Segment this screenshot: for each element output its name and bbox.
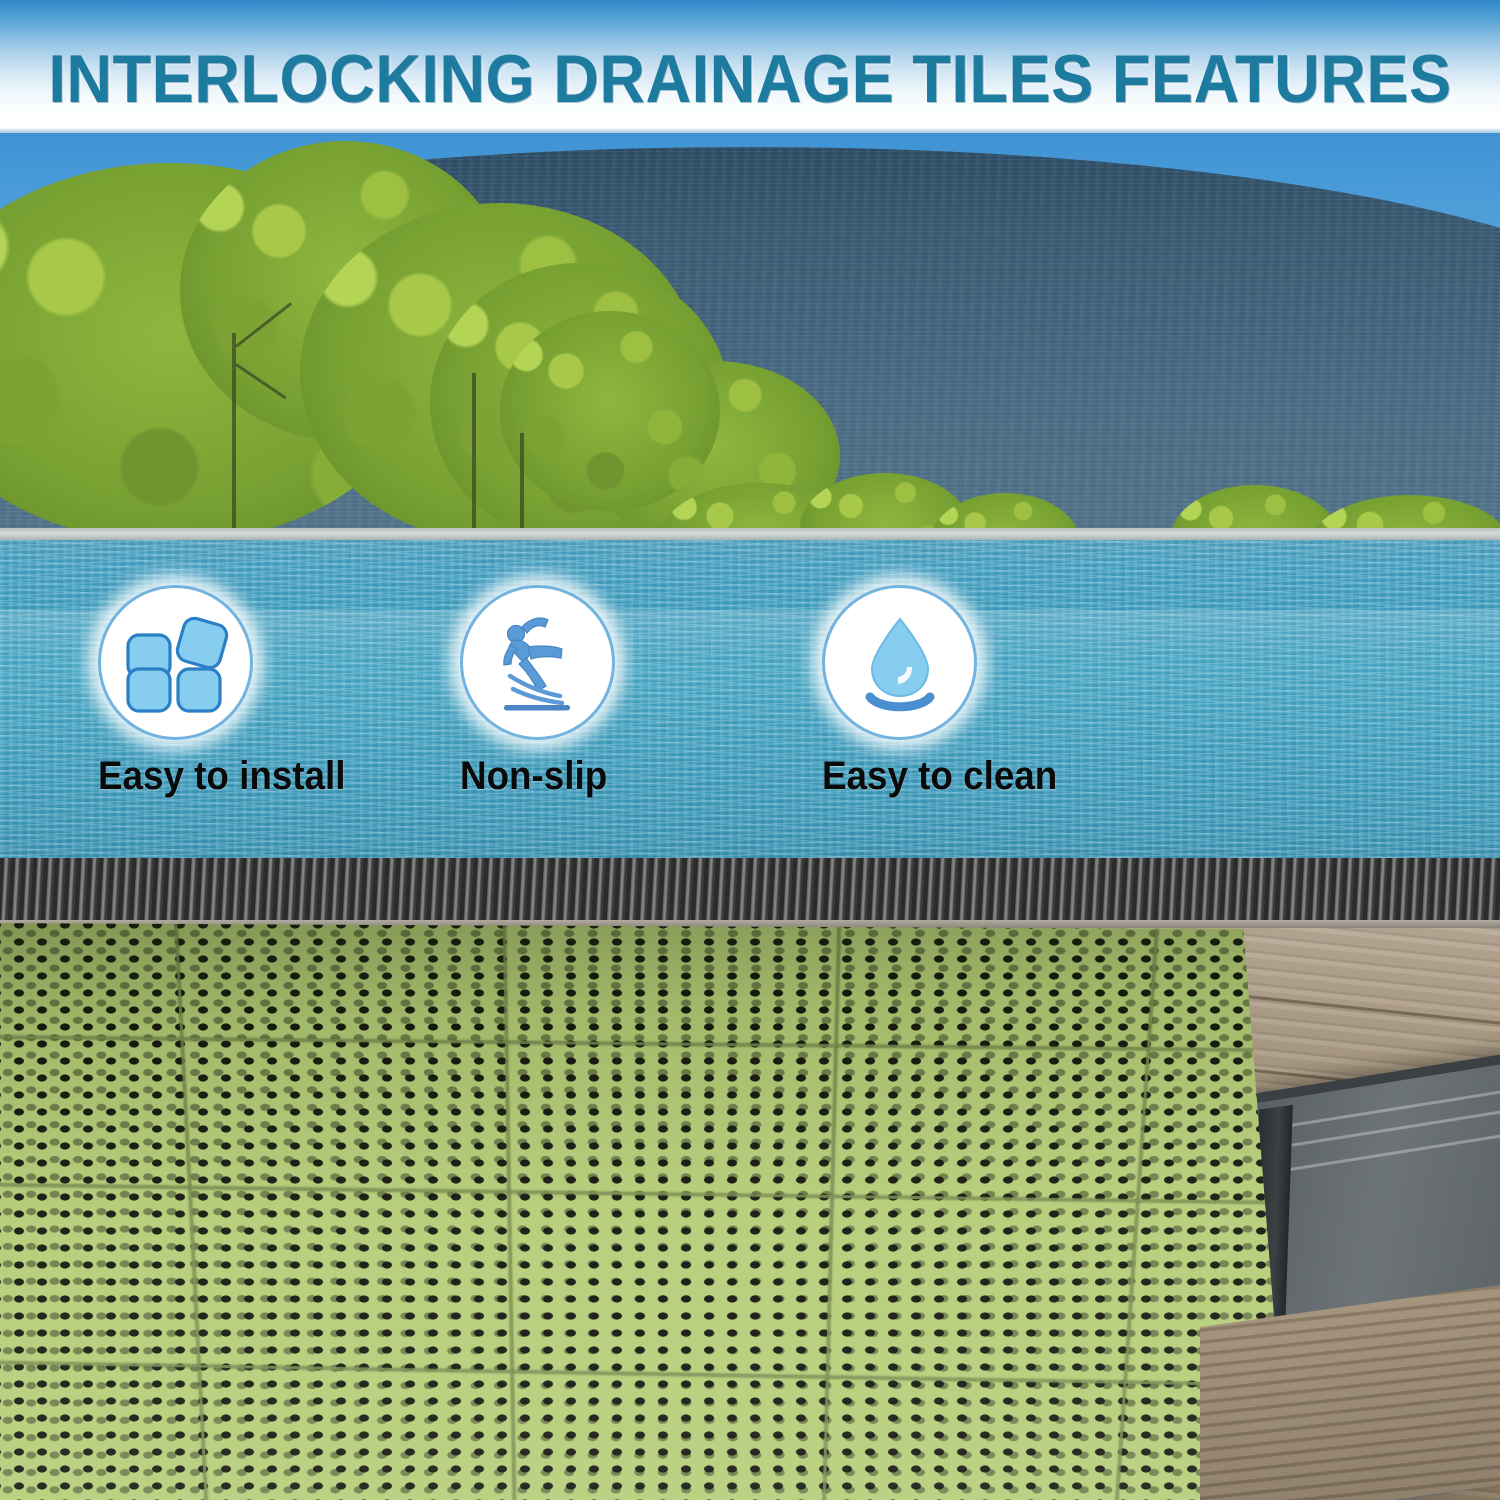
tile-lighting-overlay xyxy=(0,920,1290,1500)
tree-foliage xyxy=(500,311,720,511)
feature-badge xyxy=(98,585,253,740)
feature-label: Non-slip xyxy=(460,754,607,799)
drainage-tile-field xyxy=(0,920,1290,1500)
drain-grate-strip xyxy=(0,858,1500,928)
four-tiles-icon xyxy=(122,613,230,713)
feature-badge xyxy=(460,585,615,740)
feature-label: Easy to clean xyxy=(822,754,1057,799)
water-droplet-icon xyxy=(848,611,952,715)
feature-list: Easy to install xyxy=(0,540,1500,858)
header-banner: INTERLOCKING DRAINAGE TILES FEATURES xyxy=(0,0,1500,133)
slipping-person-icon xyxy=(486,613,590,713)
page-title: INTERLOCKING DRAINAGE TILES FEATURES xyxy=(53,0,1448,133)
feature-item-easy-to-install[interactable]: Easy to install xyxy=(98,585,367,799)
feature-badge xyxy=(822,585,977,740)
tree-branch xyxy=(520,433,524,540)
feature-item-easy-to-clean[interactable]: Easy to clean xyxy=(822,585,1078,799)
tree-line xyxy=(0,133,1500,540)
product-feature-poster: INTERLOCKING DRAINAGE TILES FEATURES xyxy=(0,0,1500,1500)
tree-branch xyxy=(472,373,476,538)
feature-item-non-slip[interactable]: Non-slip xyxy=(460,585,620,799)
deck-product-photo xyxy=(0,858,1500,1500)
feature-label: Easy to install xyxy=(98,754,345,799)
